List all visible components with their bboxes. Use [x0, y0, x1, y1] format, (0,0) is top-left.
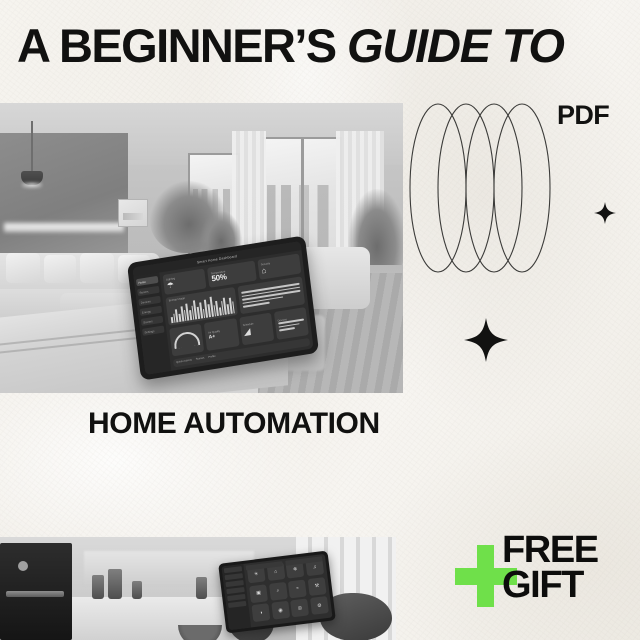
kitchen-tablet-tile-10[interactable]: ◉	[271, 601, 290, 620]
free-gift-text: FREE GIFT	[502, 533, 598, 603]
cove-light-glow	[4, 223, 124, 232]
pdf-badge: PDF	[557, 100, 609, 131]
kitchen-tablet-tile-12[interactable]: ⚙	[310, 596, 329, 615]
living-room-back-panel	[0, 133, 128, 253]
cushion	[44, 255, 76, 283]
card-climate[interactable]	[169, 323, 204, 356]
canister	[196, 577, 207, 599]
living-room-photo: Smart Home Dashboard Home Rooms Devices …	[0, 103, 403, 393]
kitchen-tablet-tile-7[interactable]: ⌁	[288, 579, 307, 598]
free-gift-badge: FREE GIFT	[455, 533, 630, 613]
pendant-lamp-glow	[22, 183, 42, 188]
card-lighting[interactable]: Lighting ☂	[163, 268, 207, 295]
sidebar-item-devices[interactable]: Devices	[138, 296, 161, 306]
bottombar-quick-actions[interactable]: Quick Actions	[176, 359, 192, 364]
kitchen-tablet-screen[interactable]: ☀⌂❄♫▣⌕⌁⚒◑◉◎⚙	[221, 554, 332, 630]
kitchen-tablet-tile-9[interactable]: ◑	[251, 603, 270, 622]
headline-regular-part: A BEGINNER’S	[17, 19, 347, 72]
four-point-sparkle-large	[464, 318, 508, 362]
climate-gauge-icon	[173, 330, 201, 349]
sparkle-large-svg	[464, 318, 508, 362]
bottombar-profile[interactable]: Profile	[208, 355, 216, 359]
pendant-lamp-cord	[31, 121, 33, 173]
free-gift-line-1: FREE	[502, 533, 598, 568]
card-devices[interactable]: Devices	[274, 307, 309, 340]
oven-knob	[18, 561, 28, 571]
sidebar-item-energy[interactable]: Energy	[140, 306, 163, 316]
energy-bar	[232, 301, 235, 313]
cushion	[80, 253, 114, 283]
tablet-screen[interactable]: Smart Home Dashboard Home Rooms Devices …	[132, 241, 313, 375]
kitchen-tablet-tile-8[interactable]: ⚒	[307, 577, 326, 596]
sparkle-small-svg	[594, 202, 616, 224]
card-schedule[interactable]: Schedule ◢	[239, 312, 274, 345]
cushion	[6, 253, 40, 283]
sidebar-item-home[interactable]: Home	[136, 276, 159, 286]
sidebar-item-rooms[interactable]: Rooms	[137, 286, 160, 296]
four-point-sparkle-small	[594, 202, 616, 224]
activity-lines	[242, 283, 302, 308]
sidebar-item-settings[interactable]: Settings	[142, 325, 165, 335]
plus-icon-vertical-bar	[477, 545, 494, 607]
kitchen-tablet-tile-5[interactable]: ▣	[249, 584, 268, 603]
free-gift-line-2: GIFT	[502, 568, 598, 603]
card-security[interactable]: Security ⌂	[257, 253, 301, 280]
card-air-quality[interactable]: Air Quality A+	[204, 318, 239, 351]
built-in-oven	[0, 543, 72, 640]
canister	[132, 581, 142, 599]
ellipses-svg	[404, 100, 556, 280]
kitchen-tablet-device[interactable]: ☀⌂❄♫▣⌕⌁⚒◑◉◎⚙	[218, 551, 336, 634]
headline-italic-part: GUIDE TO	[347, 19, 564, 72]
overlapping-ellipses-decoration	[404, 100, 556, 280]
poster-canvas: A BEGINNER’S GUIDE TO	[0, 0, 640, 640]
oven-handle	[6, 591, 64, 597]
wall-art-frame	[118, 199, 148, 227]
kitchen-tablet-tile-6[interactable]: ⌕	[269, 582, 288, 601]
canister	[92, 575, 104, 599]
kitchen-tablet-tile-11[interactable]: ◎	[290, 599, 309, 618]
fruit-bowl	[178, 625, 222, 640]
canister	[108, 569, 122, 599]
caption-home-automation: HOME AUTOMATION	[88, 407, 380, 441]
bottombar-scenes[interactable]: Scenes	[196, 357, 205, 361]
dashboard-main: Lighting ☂ Temperature 50% Security ⌂	[159, 250, 313, 371]
kitchen-photo: ☀⌂❄♫▣⌕⌁⚒◑◉◎⚙	[0, 537, 396, 640]
page-title: A BEGINNER’S GUIDE TO	[17, 22, 629, 69]
sidebar-item-scenes[interactable]: Scenes	[141, 316, 164, 326]
